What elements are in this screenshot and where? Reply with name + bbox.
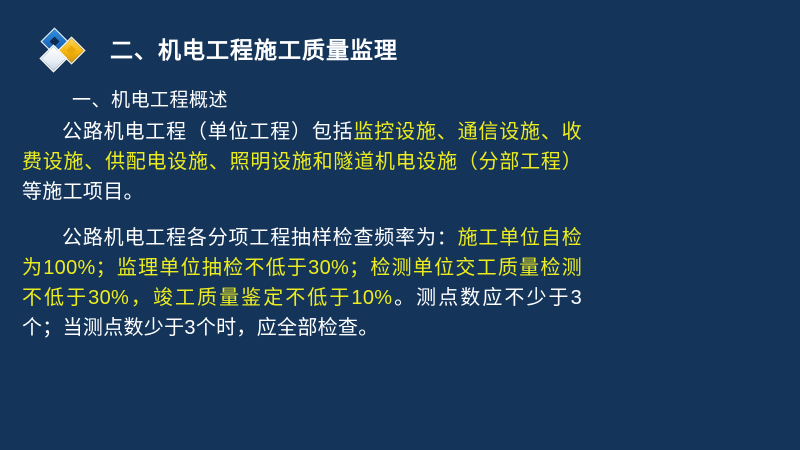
slide-body: 一、机电工程概述 公路机电工程（单位工程）包括监控设施、通信设施、收费设施、供配… <box>22 86 582 343</box>
slide-canvas: 二、机电工程施工质量监理 一、机电工程概述 公路机电工程（单位工程）包括监控设施… <box>0 0 800 450</box>
paragraph-overview-tail: 等施工项目。 <box>22 181 144 203</box>
paragraph-frequency-lead: 公路机电工程各分项工程抽样检查频率为： <box>62 227 458 249</box>
paragraph-overview-lead: 公路机电工程（单位工程）包括 <box>62 121 353 143</box>
slide-title-bar: 二、机电工程施工质量监理 <box>0 28 800 74</box>
diamond-logo <box>44 30 88 72</box>
paragraph-frequency: 公路机电工程各分项工程抽样检查频率为：施工单位自检为100%；监理单位抽检不低于… <box>22 223 582 343</box>
paragraph-overview: 公路机电工程（单位工程）包括监控设施、通信设施、收费设施、供配电设施、照明设施和… <box>22 117 582 207</box>
slide-title: 二、机电工程施工质量监理 <box>110 37 398 65</box>
section-subheading: 一、机电工程概述 <box>22 86 582 115</box>
